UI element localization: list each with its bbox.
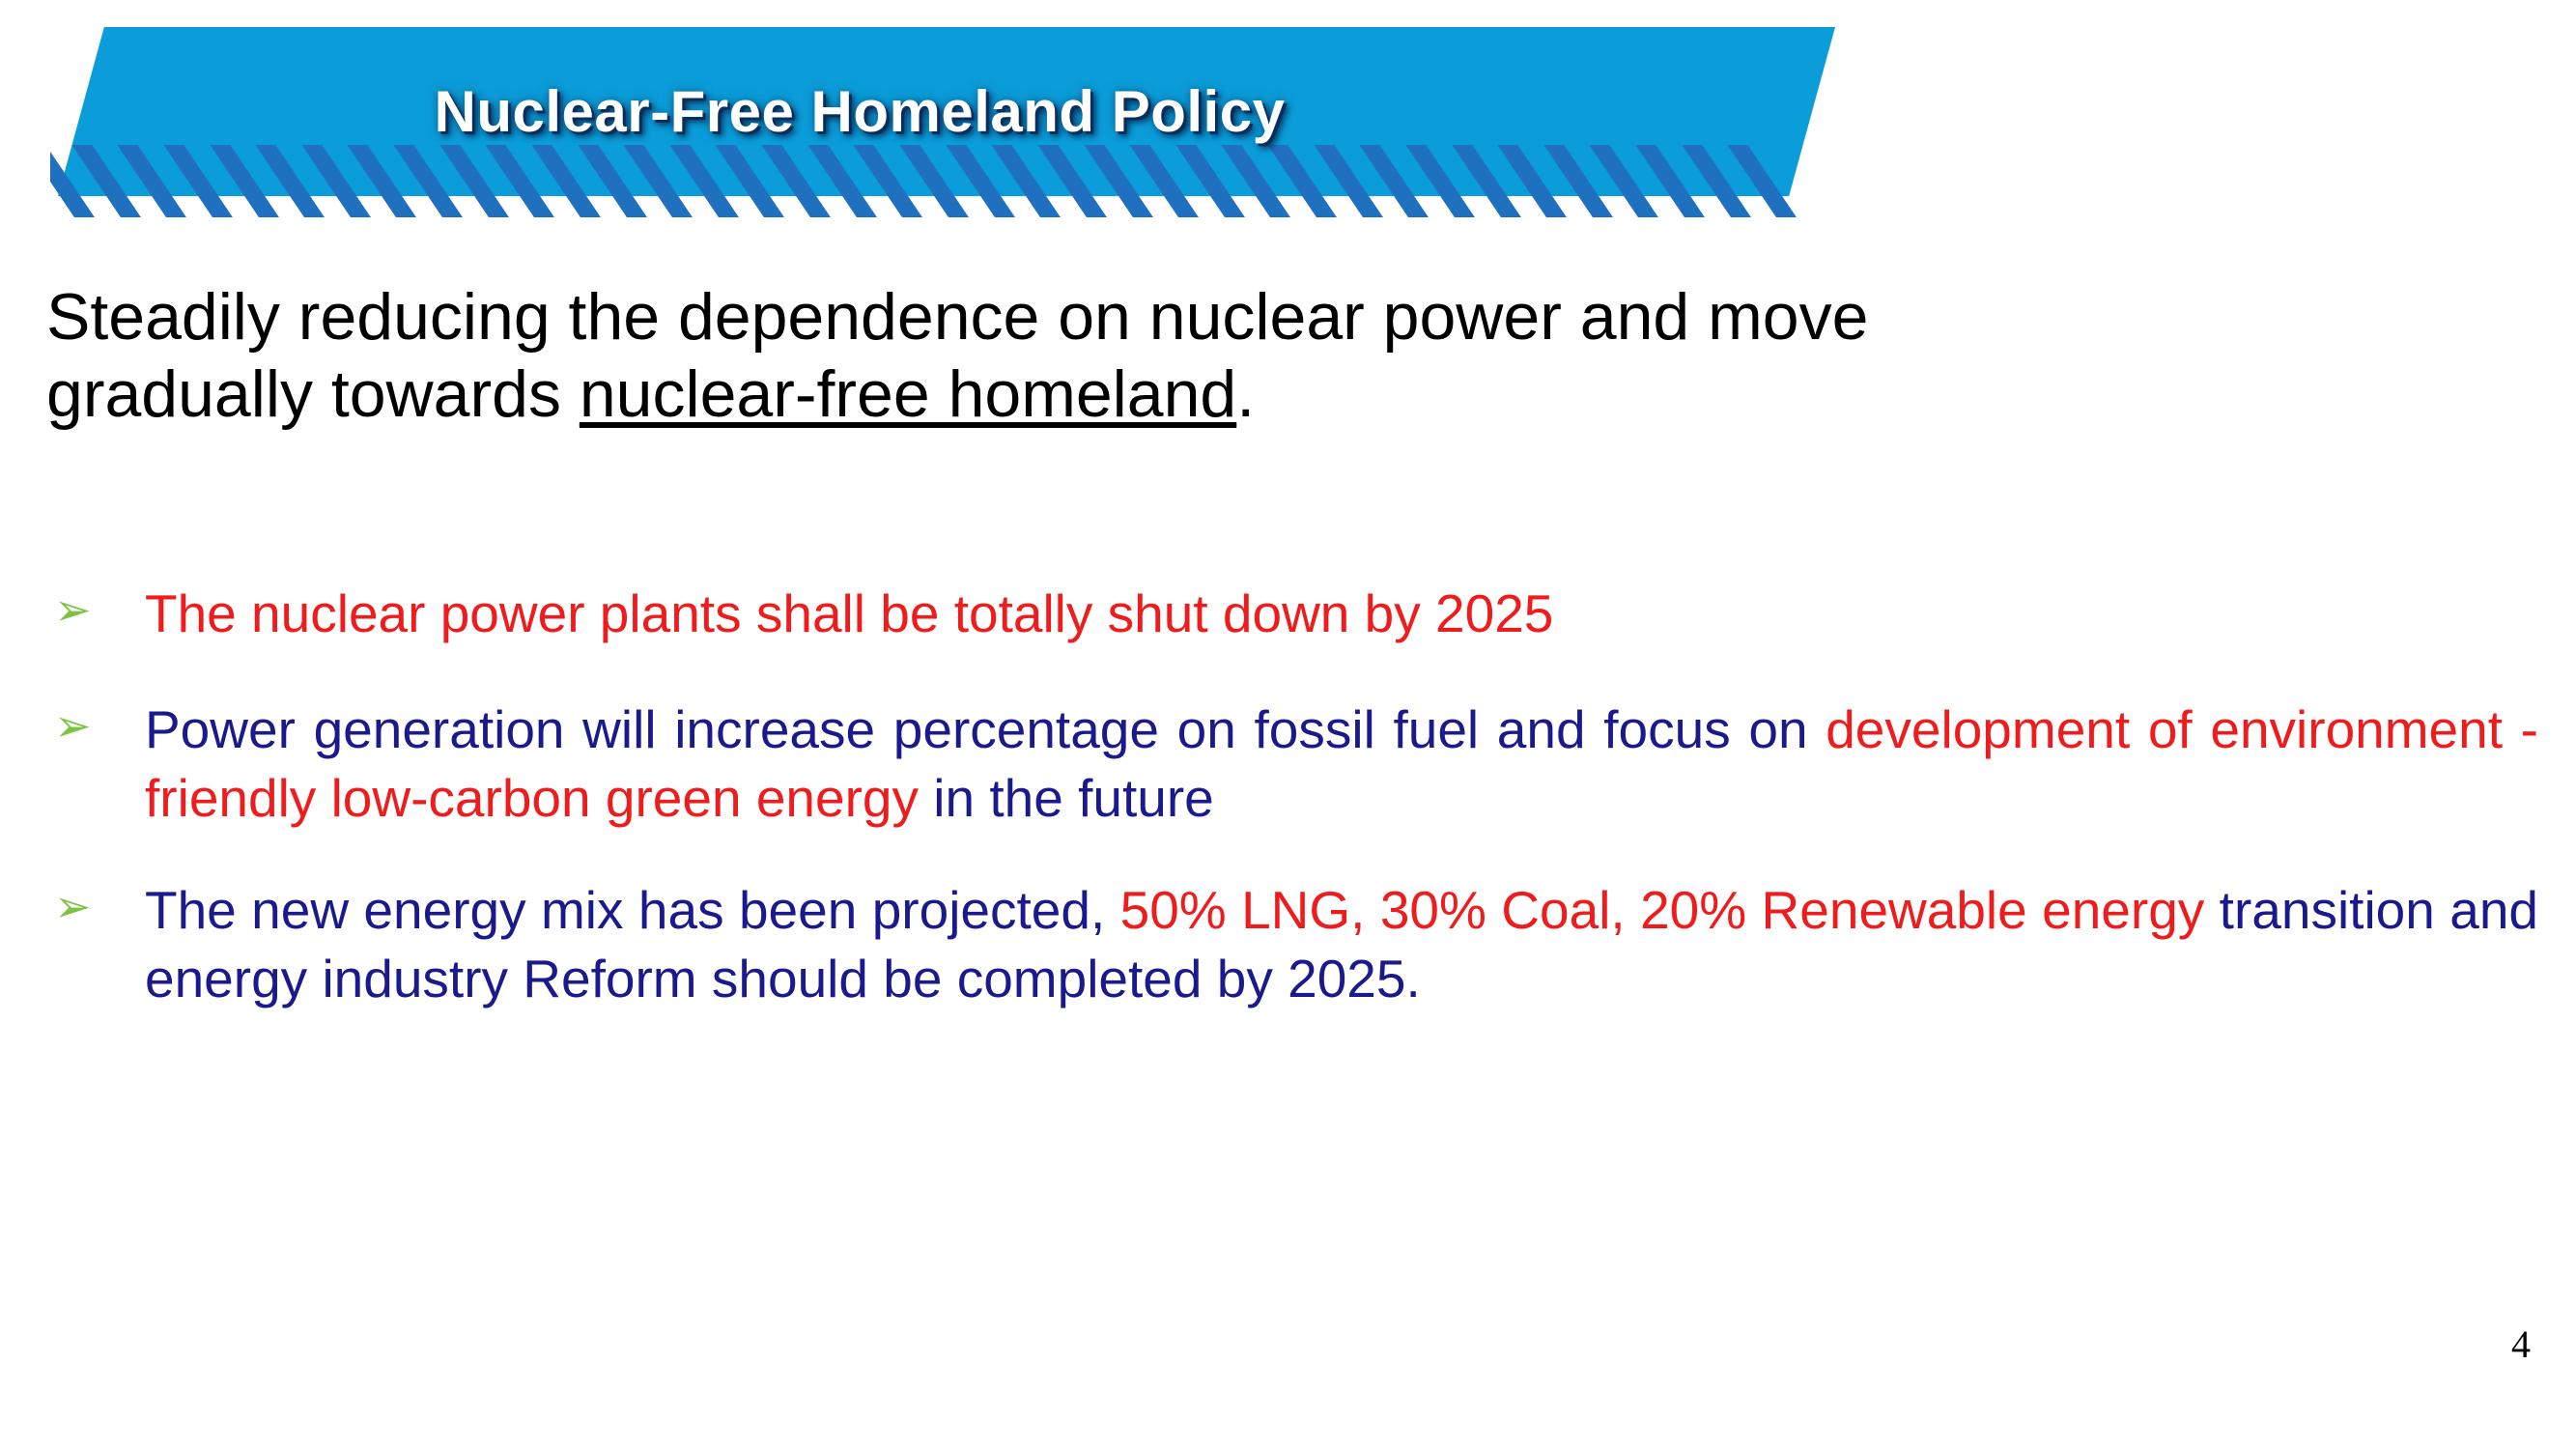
intro-text-after: . xyxy=(1236,357,1255,431)
intro-text-before: gradually towards xyxy=(46,357,580,431)
page-number: 4 xyxy=(2511,1321,2531,1367)
page-title: Nuclear-Free Homeland Policy xyxy=(58,27,1777,196)
bullet-item: ➢The nuclear power plants shall be total… xyxy=(46,580,2538,649)
intro-line-2: gradually towards nuclear-free homeland. xyxy=(46,355,2534,433)
intro-line-1: Steadily reducing the dependence on nucl… xyxy=(46,278,2534,355)
intro-underlined-phrase: nuclear-free homeland xyxy=(580,357,1236,431)
bullet-item: ➢The new energy mix has been projected, … xyxy=(46,876,2538,1014)
arrow-bullet-icon: ➢ xyxy=(54,582,92,639)
bullet-text-segment-blue: in the future xyxy=(919,768,1214,828)
title-banner: Nuclear-Free Homeland Policy xyxy=(0,0,1883,241)
bullet-text-segment-blue: The new energy mix has been projected, xyxy=(145,880,1120,940)
arrow-bullet-icon: ➢ xyxy=(54,697,92,755)
bullet-item: ➢Power generation will increase percenta… xyxy=(46,696,2538,834)
bullet-text-segment-blue: Power generation will increase percentag… xyxy=(145,699,1826,759)
bullet-text-segment-red: 50% LNG, 30% Coal, 20% Renewable energy xyxy=(1120,880,2205,940)
arrow-bullet-icon: ➢ xyxy=(54,878,92,936)
intro-paragraph: Steadily reducing the dependence on nucl… xyxy=(46,278,2534,433)
bullet-list: ➢The nuclear power plants shall be total… xyxy=(46,580,2538,1014)
bullet-text-segment-red: The nuclear power plants shall be totall… xyxy=(145,583,1553,643)
